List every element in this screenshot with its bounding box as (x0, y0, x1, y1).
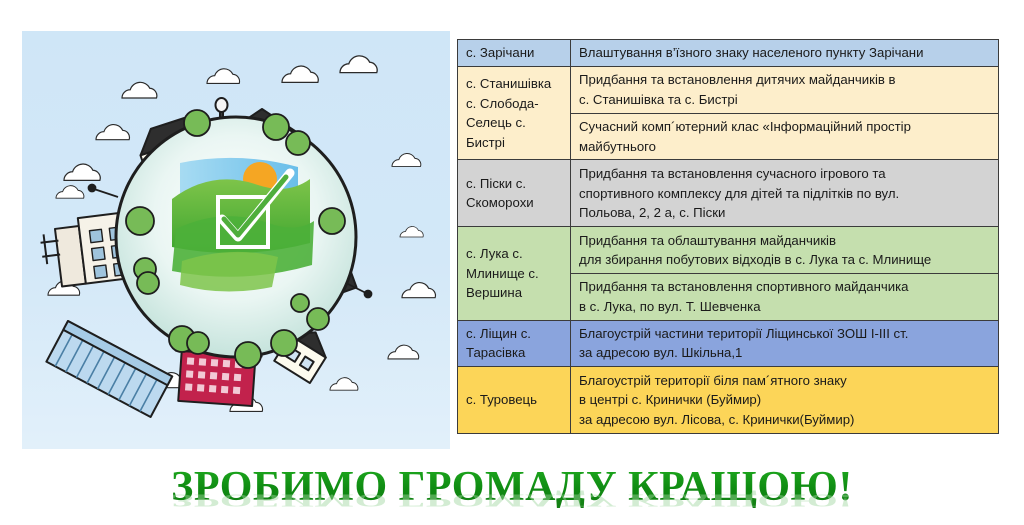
project-cell: Влаштування в’їзного знаку населеного пу… (571, 40, 999, 67)
project-line: Придбання та встановлення сучасного ігро… (579, 164, 991, 183)
project-line: Польова, 2, 2 а, с. Піски (579, 203, 991, 222)
village-name: с. Піски (466, 176, 512, 191)
project-cell: Придбання та встановлення сучасного ігро… (571, 160, 999, 227)
projects-table-body: с. Зарічани Влаштування в’їзного знаку н… (458, 40, 999, 434)
project-cell: Благоустрій території біля пам´ятного зн… (571, 367, 999, 434)
project-cell: Придбання та встановлення дитячих майдан… (571, 66, 999, 113)
slide-canvas: с. Зарічани Влаштування в’їзного знаку н… (0, 0, 1024, 525)
green-planet-illustration (22, 31, 450, 449)
table-row: с. Піски с. Скоморохи Придбання та встан… (458, 160, 999, 227)
table-row: с. Туровець Благоустрій території біля п… (458, 367, 999, 434)
project-cell: Придбання та встановлення спортивного ма… (571, 273, 999, 320)
project-line: Придбання та облаштування майданчиків (579, 231, 991, 250)
village-name: с. Туровець (466, 392, 537, 407)
village-cell: с. Станишівка с. Слобода- Селець с. Бист… (458, 66, 571, 160)
village-name: с. Ліщин (466, 326, 517, 341)
project-line: Придбання та встановлення спортивного ма… (579, 277, 991, 296)
village-name: с. Слобода- (466, 96, 539, 111)
projects-table: с. Зарічани Влаштування в’їзного знаку н… (457, 39, 999, 434)
project-line: Благоустрій території біля пам´ятного зн… (579, 371, 991, 390)
project-cell: Сучасний комп´ютерний клас «Інформаційни… (571, 113, 999, 160)
village-name: с. Станишівка (466, 76, 551, 91)
project-line: Благоустрій частини території Ліщинської… (579, 324, 991, 343)
table-row: с. Лука с. Млинище с. Вершина Придбання … (458, 227, 999, 274)
slogan-reflection: ЗРОБИМО ГРОМАДУ КРАЩОЮ! (0, 491, 1024, 509)
project-line: для збирання побутових відходів в с. Лук… (579, 250, 991, 269)
table-row: с. Ліщин с. Тарасівка Благоустрій частин… (458, 320, 999, 367)
slogan-block: ЗРОБИМО ГРОМАДУ КРАЩОЮ! ЗРОБИМО ГРОМАДУ … (0, 466, 1024, 525)
village-name: Селець (466, 115, 512, 130)
project-line: Придбання та встановлення дитячих майдан… (579, 70, 991, 89)
village-name: с. Лука (466, 246, 509, 261)
project-cell: Придбання та облаштування майданчиків дл… (571, 227, 999, 274)
project-cell: Благоустрій частини території Ліщинської… (571, 320, 999, 367)
project-line: спортивного комплексу для дітей та підлі… (579, 184, 991, 203)
village-cell: с. Зарічани (458, 40, 571, 67)
village-cell: с. Лука с. Млинище с. Вершина (458, 227, 571, 321)
project-line: Влаштування в’їзного знаку населеного пу… (579, 43, 991, 62)
project-line: майбутнього (579, 137, 991, 156)
project-line: в с. Лука, по вул. Т. Шевченка (579, 297, 991, 316)
project-line: за адресою вул. Лісова, с. Кринички(Буйм… (579, 410, 991, 429)
project-line: за адресою вул. Шкільна,1 (579, 343, 991, 362)
village-cell: с. Туровець (458, 367, 571, 434)
village-cell: с. Піски с. Скоморохи (458, 160, 571, 227)
table-row: с. Зарічани Влаштування в’їзного знаку н… (458, 40, 999, 67)
project-line: с. Станишівка та с. Бистрі (579, 90, 991, 109)
project-line: в центрі с. Кринички (Буймир) (579, 390, 991, 409)
village-cell: с. Ліщин с. Тарасівка (458, 320, 571, 367)
village-name: с. Зарічани (466, 45, 534, 60)
table-row: с. Станишівка с. Слобода- Селець с. Бист… (458, 66, 999, 113)
project-line: Сучасний комп´ютерний клас «Інформаційни… (579, 117, 991, 136)
